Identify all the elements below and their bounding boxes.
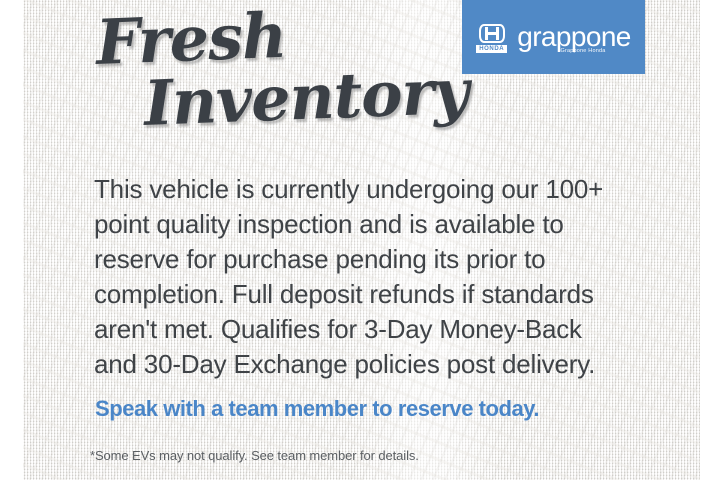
- fresh-inventory-banner: HONDA grappone Grappone Honda Fresh Inve…: [0, 0, 720, 480]
- honda-wordmark: HONDA: [476, 45, 507, 53]
- honda-emblem-crossbar: [485, 32, 499, 35]
- call-to-action-text: Speak with a team member to reserve toda…: [95, 396, 539, 422]
- grappone-honda-logo-block: HONDA grappone Grappone Honda: [462, 0, 645, 74]
- letterbox-left: [0, 0, 23, 480]
- letterbox-right: [700, 0, 720, 480]
- disclosure-paragraph: This vehicle is currently undergoing our…: [94, 172, 624, 382]
- grappone-wordmark: grappone: [517, 23, 631, 51]
- grappone-logo: grappone Grappone Honda: [517, 23, 631, 55]
- footnote-text: *Some EVs may not qualify. See team memb…: [90, 448, 419, 463]
- honda-h-emblem-icon: [479, 24, 505, 43]
- honda-logo: HONDA: [476, 24, 507, 53]
- grappone-tagline: Grappone Honda: [561, 48, 606, 55]
